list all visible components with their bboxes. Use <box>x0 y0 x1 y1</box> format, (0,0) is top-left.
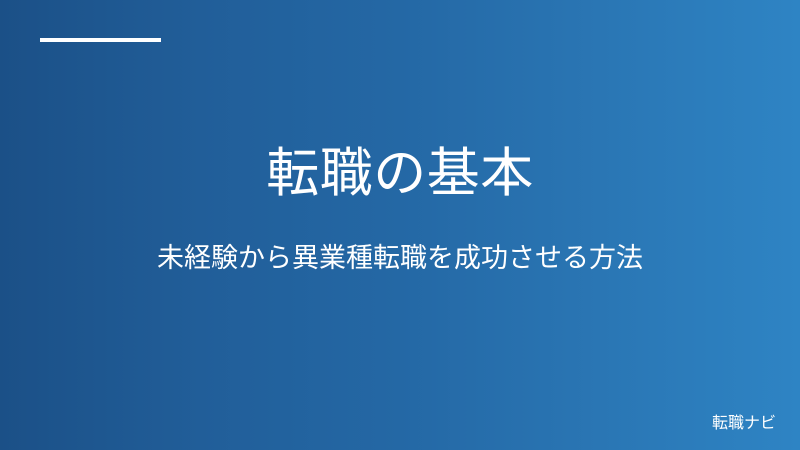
title-block: 転職の基本 未経験から異業種転職を成功させる方法 <box>0 0 800 450</box>
page-subtitle: 未経験から異業種転職を成功させる方法 <box>0 240 800 276</box>
title-slide: 転職の基本 未経験から異業種転職を成功させる方法 転職ナビ <box>0 0 800 450</box>
accent-rule <box>40 38 161 42</box>
page-title: 転職の基本 <box>0 140 800 208</box>
footer-brand: 転職ナビ <box>712 414 776 434</box>
